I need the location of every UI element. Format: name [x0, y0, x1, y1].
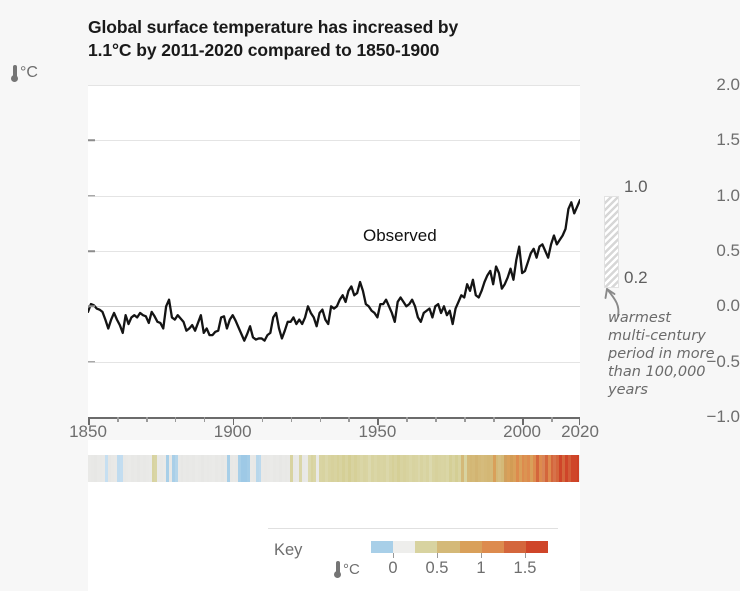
chart-title: Global surface temperature has increased… [88, 16, 648, 63]
key-unit-label: °C [343, 561, 360, 578]
chart-title-line-2: 1.1°C by 2011-2020 compared to 1850-1900 [88, 39, 648, 62]
series-label-observed: Observed [363, 226, 437, 246]
x-tick-mark-1870 [146, 417, 148, 422]
x-tick-mark-1990 [493, 417, 495, 422]
x-tick-mark-1950 [377, 417, 379, 425]
x-tick-label-2020: 2020 [561, 422, 599, 442]
x-tick-mark-2010 [551, 417, 553, 422]
x-tick-mark-1940 [348, 417, 350, 422]
y-tick-mark-1-0 [88, 195, 95, 197]
x-tick-mark-1980 [464, 417, 466, 422]
y-tick-label-2: 1.0 [682, 186, 740, 206]
y-tick-label-6: −1.0 [682, 407, 740, 427]
annotation-line-5: years [608, 382, 738, 400]
key-swatch-4 [460, 541, 482, 553]
stripe-2019 [577, 455, 580, 482]
key-swatch-6 [504, 541, 526, 553]
key-swatch-7 [526, 541, 548, 553]
x-tick-label-1900: 1900 [214, 422, 252, 442]
key-swatch-5 [482, 541, 504, 553]
key-unit: °C [333, 561, 360, 578]
x-axis-line [88, 417, 580, 419]
y-tick-mark-0-0 [88, 306, 95, 308]
x-tick-mark-1930 [320, 417, 322, 422]
x-tick-mark-1970 [435, 417, 437, 422]
x-tick-mark-1890 [204, 417, 206, 422]
key-swatch-2 [415, 541, 437, 553]
warmest-period-upper-value: 1.0 [624, 177, 648, 197]
warmest-period-annotation: warmest multi-century period in more tha… [608, 310, 738, 400]
chart-figure: Global surface temperature has increased… [0, 0, 740, 591]
key-tick-label-1: 1 [476, 559, 485, 578]
key-label: Key [274, 541, 302, 560]
thermometer-icon [10, 65, 19, 82]
key-swatch-3 [437, 541, 459, 553]
key-color-scale [371, 541, 548, 553]
x-tick-label-1950: 1950 [358, 422, 396, 442]
x-tick-label-1850: 1850 [69, 422, 107, 442]
warmest-period-bar [604, 196, 619, 288]
annotation-line-2: multi-century [608, 328, 738, 346]
annotation-line-3: period in more [608, 346, 738, 364]
x-tick-mark-1960 [406, 417, 408, 422]
key-swatch-0 [371, 541, 393, 553]
x-tick-mark-2020 [579, 417, 581, 425]
key-tick-mark-1-5 [525, 553, 526, 558]
key-swatch-1 [393, 541, 415, 553]
x-tick-mark-2000 [522, 417, 524, 425]
key-tick-mark-0-5 [437, 553, 438, 558]
key-divider [268, 528, 558, 529]
key-tick-label-0: 0 [388, 559, 397, 578]
x-tick-mark-1880 [175, 417, 177, 422]
x-tick-label-2000: 2000 [503, 422, 541, 442]
x-tick-mark-1850 [88, 417, 90, 425]
y-tick-label-0: 2.0 [682, 75, 740, 95]
x-tick-mark-1910 [262, 417, 264, 422]
y-tick-label-3: 0.5 [682, 241, 740, 261]
x-tick-mark-1900 [233, 417, 235, 425]
observed-temperature-line [88, 85, 580, 417]
key-thermometer-icon [333, 561, 342, 578]
y-tick-label-1: 1.5 [682, 130, 740, 150]
key-tick-label-1-5: 1.5 [514, 559, 537, 578]
y-axis-unit-label: °C [20, 64, 38, 82]
y-axis-unit: °C [10, 64, 38, 82]
warming-stripes [88, 455, 580, 482]
x-tick-mark-1920 [291, 417, 293, 422]
x-tick-mark-1860 [117, 417, 119, 422]
y-tick-mark-1-5 [88, 140, 95, 142]
y-tick-mark-neg-0-5 [88, 361, 95, 363]
chart-title-line-1: Global surface temperature has increased… [88, 16, 648, 39]
y-tick-mark-0-5 [88, 250, 95, 252]
plot-area [88, 85, 580, 417]
annotation-line-1: warmest [608, 310, 738, 328]
key-tick-label-0-5: 0.5 [426, 559, 449, 578]
key-tick-mark-0 [393, 553, 394, 558]
annotation-line-4: than 100,000 [608, 364, 738, 382]
key-tick-mark-1 [481, 553, 482, 558]
